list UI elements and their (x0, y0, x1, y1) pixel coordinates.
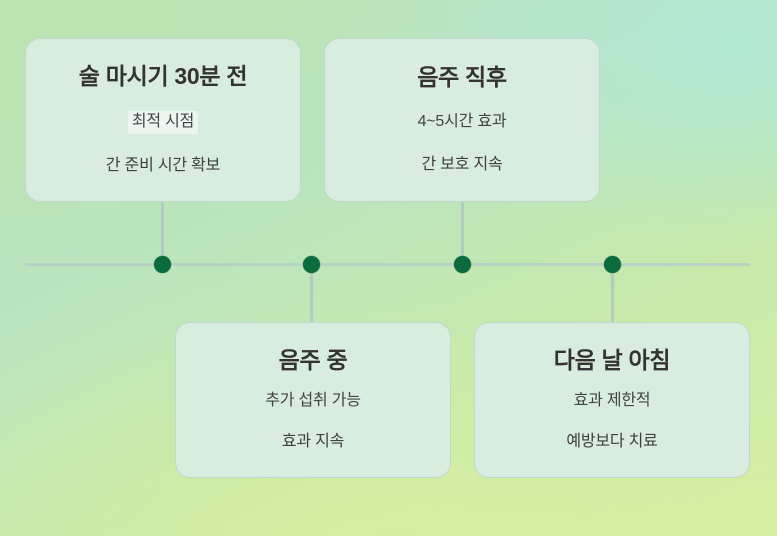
connector-node-2 (461, 202, 464, 260)
card-note: 간 준비 시간 확보 (106, 156, 220, 177)
timeline-dot-1[interactable] (154, 256, 171, 273)
card-subtitle: 4~5시간 효과 (418, 112, 507, 133)
card-title: 음주 중 (279, 347, 348, 375)
timeline-card-next-morning[interactable]: 다음 날 아침 효과 제한적 예방보다 치료 (474, 322, 750, 478)
timeline-card-while-drinking[interactable]: 음주 중 추가 섭취 가능 효과 지속 (175, 322, 451, 478)
timeline-card-before-drinking[interactable]: 술 마시기 30분 전 최적 시점 간 준비 시간 확보 (25, 38, 301, 202)
card-subtitle: 추가 섭취 가능 (265, 391, 361, 412)
timeline-dot-2[interactable] (303, 256, 320, 273)
connector-node-4 (611, 268, 614, 324)
card-title: 음주 직후 (417, 64, 507, 92)
timeline-dot-4[interactable] (604, 256, 621, 273)
card-subtitle: 효과 제한적 (574, 391, 651, 412)
card-note: 간 보호 지속 (421, 155, 502, 176)
connector-node-1 (161, 202, 164, 260)
card-subtitle: 최적 시점 (128, 111, 198, 134)
timeline-card-right-after-drinking[interactable]: 음주 직후 4~5시간 효과 간 보호 지속 (324, 38, 600, 202)
card-title: 술 마시기 30분 전 (79, 63, 247, 91)
card-title: 다음 날 아침 (554, 347, 670, 375)
card-note: 예방보다 치료 (566, 432, 657, 453)
timeline-dot-3[interactable] (454, 256, 471, 273)
card-note: 효과 지속 (282, 432, 344, 453)
connector-node-3 (310, 268, 313, 324)
timeline-infographic: 술 마시기 30분 전 최적 시점 간 준비 시간 확보 음주 직후 4~5시간… (0, 0, 777, 536)
timeline-axis-line (25, 263, 750, 266)
